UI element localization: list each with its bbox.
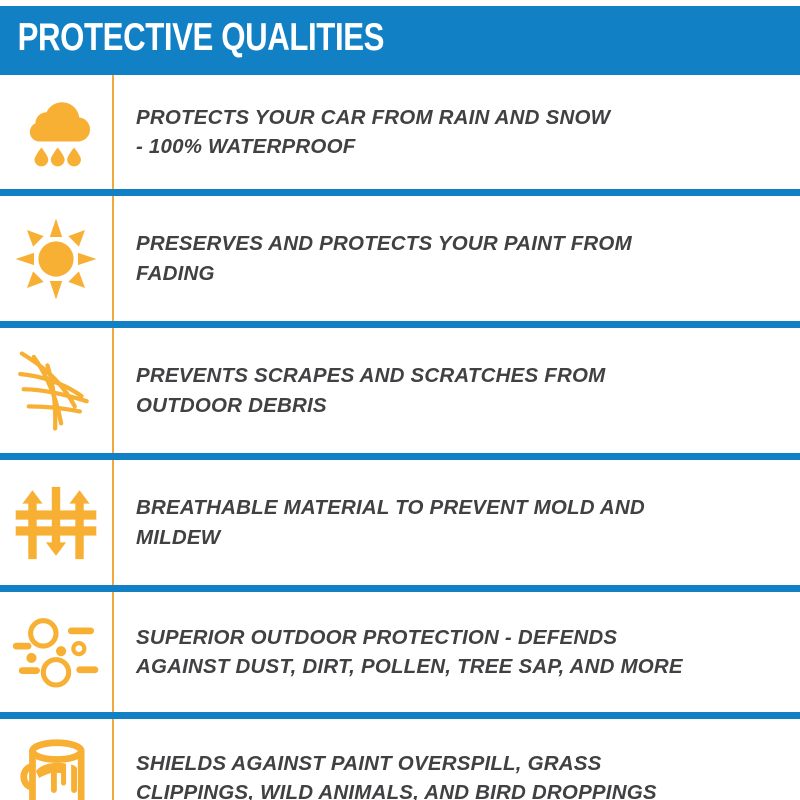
feature-row: SHIELDS AGAINST PAINT OVERSPILL, GRASS C…: [0, 719, 800, 800]
text-cell: BREATHABLE MATERIAL TO PREVENT MOLD AND …: [112, 493, 800, 551]
feature-text-line: PRESERVES AND PROTECTS YOUR PAINT FROM: [136, 229, 782, 258]
page-title: PROTECTIVE QUALITIES: [0, 18, 384, 57]
feature-row: SUPERIOR OUTDOOR PROTECTION - DEFENDS AG…: [0, 592, 800, 712]
scratches-icon: [13, 345, 99, 437]
feature-text-line: CLIPPINGS, WILD ANIMALS, AND BIRD DROPPI…: [136, 778, 782, 800]
feature-text-line: OUTDOOR DEBRIS: [136, 391, 782, 420]
feature-text: SUPERIOR OUTDOOR PROTECTION - DEFENDS AG…: [136, 623, 782, 681]
icon-cell: [0, 75, 112, 189]
row-divider: [0, 712, 800, 719]
row-divider: [0, 68, 800, 75]
feature-row: PROTECTS YOUR CAR FROM RAIN AND SNOW - 1…: [0, 75, 800, 189]
feature-text-line: MILDEW: [136, 523, 782, 552]
feature-text: SHIELDS AGAINST PAINT OVERSPILL, GRASS C…: [136, 749, 782, 800]
feature-text-line: - 100% WATERPROOF: [136, 132, 782, 161]
icon-cell: [0, 196, 112, 321]
feature-row: BREATHABLE MATERIAL TO PREVENT MOLD AND …: [0, 460, 800, 585]
text-cell: SHIELDS AGAINST PAINT OVERSPILL, GRASS C…: [112, 749, 800, 800]
dust-particles-icon: [12, 609, 100, 695]
row-divider: [0, 453, 800, 460]
icon-cell: [0, 460, 112, 585]
feature-text-line: BREATHABLE MATERIAL TO PREVENT MOLD AND: [136, 493, 782, 522]
feature-text-line: SHIELDS AGAINST PAINT OVERSPILL, GRASS: [136, 749, 782, 778]
feature-text-line: PROTECTS YOUR CAR FROM RAIN AND SNOW: [136, 103, 782, 132]
feature-text: BREATHABLE MATERIAL TO PREVENT MOLD AND …: [136, 493, 782, 551]
icon-cell: [0, 719, 112, 800]
header-banner: PROTECTIVE QUALITIES: [0, 6, 800, 68]
icon-cell: [0, 328, 112, 453]
feature-text-line: PREVENTS SCRAPES AND SCRATCHES FROM: [136, 361, 782, 390]
icon-cell: [0, 592, 112, 712]
feature-text: PREVENTS SCRAPES AND SCRATCHES FROM OUTD…: [136, 361, 782, 419]
protective-qualities-infographic: PROTECTIVE QUALITIES: [0, 0, 800, 800]
rain-cloud-icon: [13, 89, 99, 175]
breathable-airflow-icon: [14, 478, 98, 568]
feature-row: PRESERVES AND PROTECTS YOUR PAINT FROM F…: [0, 196, 800, 321]
text-cell: PREVENTS SCRAPES AND SCRATCHES FROM OUTD…: [112, 361, 800, 419]
row-divider: [0, 321, 800, 328]
text-cell: PROTECTS YOUR CAR FROM RAIN AND SNOW - 1…: [112, 103, 800, 161]
feature-text-line: FADING: [136, 259, 782, 288]
text-cell: PRESERVES AND PROTECTS YOUR PAINT FROM F…: [112, 229, 800, 287]
text-cell: SUPERIOR OUTDOOR PROTECTION - DEFENDS AG…: [112, 623, 800, 681]
feature-list: PROTECTS YOUR CAR FROM RAIN AND SNOW - 1…: [0, 68, 800, 800]
paint-bucket-icon: [14, 734, 98, 800]
feature-text-line: SUPERIOR OUTDOOR PROTECTION - DEFENDS: [136, 623, 782, 652]
feature-text: PRESERVES AND PROTECTS YOUR PAINT FROM F…: [136, 229, 782, 287]
feature-text: PROTECTS YOUR CAR FROM RAIN AND SNOW - 1…: [136, 103, 782, 161]
sun-icon: [12, 215, 100, 303]
feature-row: PREVENTS SCRAPES AND SCRATCHES FROM OUTD…: [0, 328, 800, 453]
row-divider: [0, 189, 800, 196]
feature-text-line: AGAINST DUST, DIRT, POLLEN, TREE SAP, AN…: [136, 652, 782, 681]
row-divider: [0, 585, 800, 592]
